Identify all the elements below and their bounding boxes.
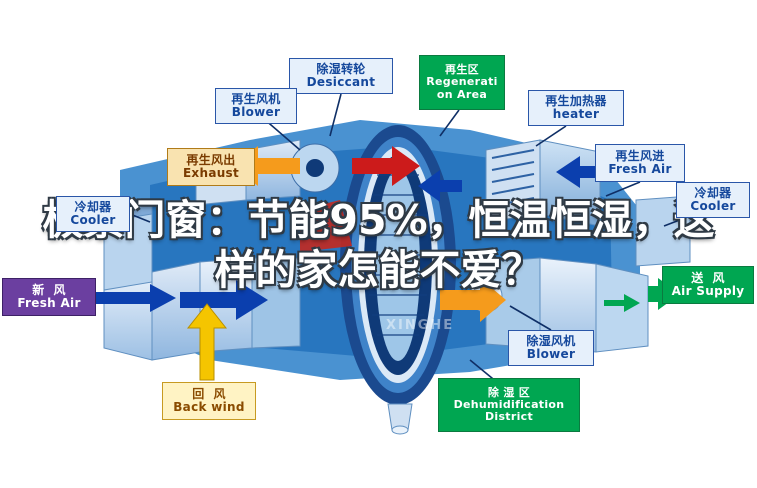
watermark: XINGHE <box>386 318 454 333</box>
label-desiccant-rotor: 除湿转轮 Desiccant <box>289 58 393 94</box>
label-regeneration-heater: 再生加热器 heater <box>528 90 624 126</box>
label-regeneration-area: 再生区 Regenerati on Area <box>419 55 505 110</box>
label-regeneration-exhaust: 再生风出 Exhaust <box>167 148 255 186</box>
label-dehumidify-blower: 除湿风机 Blower <box>508 330 594 366</box>
label-air-supply: 送 风 Air Supply <box>662 266 754 304</box>
diagram-canvas: 极景门窗：节能95%，恒温恒湿，这样的家怎能不爱？ XINGHE 除湿转轮 De… <box>0 0 757 488</box>
label-cooler-right: 冷却器 Cooler <box>676 182 750 218</box>
label-regeneration-blower: 再生风机 Blower <box>215 88 297 124</box>
label-regeneration-inlet: 再生风进 Fresh Air <box>595 144 685 182</box>
label-dehumidify-district: 除 湿 区 Dehumidification District <box>438 378 580 432</box>
label-fresh-air: 新 风 Fresh Air <box>2 278 96 316</box>
label-cooler-left: 冷却器 Cooler <box>56 196 130 232</box>
regeneration-heater-unit <box>486 140 600 226</box>
label-back-wind: 回 风 Back wind <box>162 382 256 420</box>
